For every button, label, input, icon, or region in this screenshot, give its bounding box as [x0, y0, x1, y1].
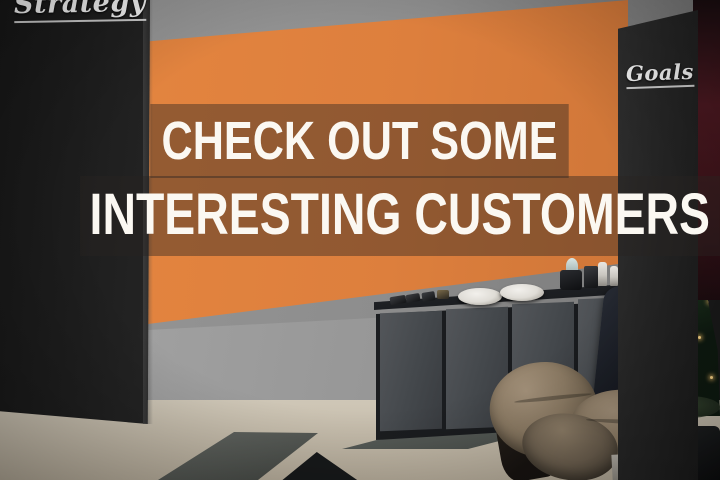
tree-light: [698, 336, 701, 339]
bottle: [598, 262, 607, 286]
bottle: [610, 266, 618, 286]
wall-label-strategy: Strategy: [14, 0, 146, 23]
cabinet-clutter-item: [560, 270, 582, 290]
wall-label-goals-text: Goals: [626, 59, 695, 86]
overlay-title-line-2: INTERESTING CUSTOMERS: [80, 176, 720, 256]
overlay-title: CHECK OUT SOME INTERESTING CUSTOMERS: [0, 104, 720, 256]
cabinet-clutter-item: [437, 290, 449, 299]
wall-label-goals: Goals: [626, 59, 695, 89]
banner-image: Strategy Goals CHECK OUT SOME INTERESTIN…: [0, 0, 720, 480]
tree-light: [710, 376, 713, 379]
wall-label-strategy-text: Strategy: [14, 0, 146, 20]
cabinet-clutter-item: [584, 266, 598, 288]
stacked-plate: [458, 288, 502, 305]
tree-light: [708, 300, 711, 303]
stacked-plate: [500, 284, 544, 301]
cabinet-door: [380, 311, 442, 432]
overlay-title-line-1: CHECK OUT SOME: [151, 104, 569, 178]
